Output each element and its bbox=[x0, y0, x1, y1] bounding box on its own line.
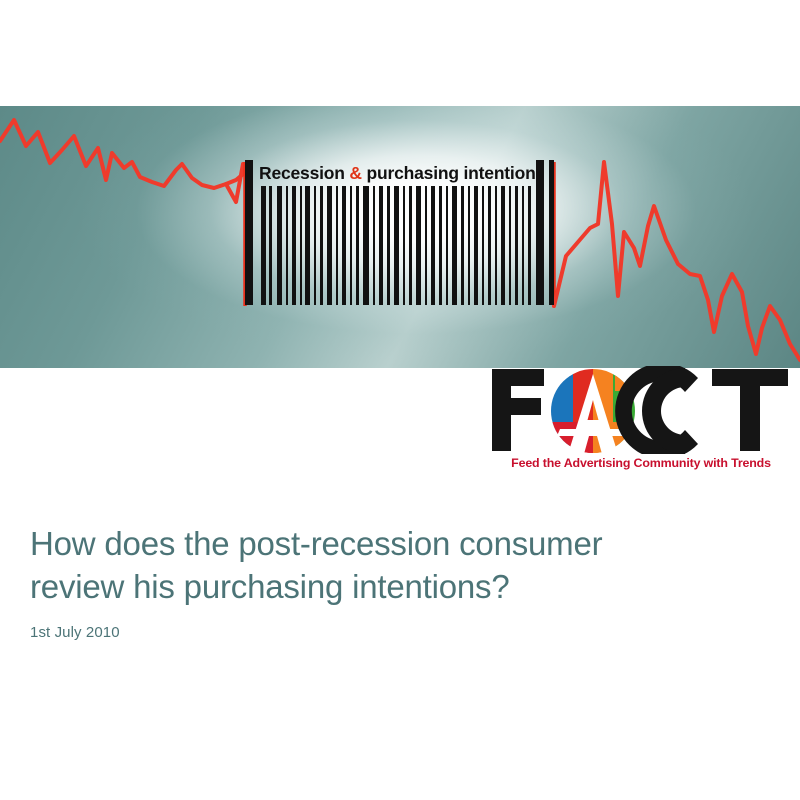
trend-line-right bbox=[554, 162, 800, 360]
logo-letter-c bbox=[615, 366, 698, 454]
trend-line-left bbox=[0, 120, 248, 188]
logo-letter-f bbox=[492, 369, 544, 451]
barcode: Recession & purchasing intention bbox=[243, 160, 556, 305]
fact-logo-mark bbox=[490, 366, 790, 454]
logo-letter-t bbox=[712, 369, 788, 451]
recession-banner: Recession & purchasing intention bbox=[0, 106, 800, 368]
page-title: How does the post-recession consumer rev… bbox=[30, 522, 760, 608]
title-block: How does the post-recession consumer rev… bbox=[30, 522, 760, 641]
logo-a-gap bbox=[557, 429, 629, 436]
page-title-line-2: review his purchasing intentions? bbox=[30, 568, 510, 605]
barcode-bars bbox=[243, 160, 556, 305]
presentation-date: 1st July 2010 bbox=[30, 624, 760, 641]
page-title-line-1: How does the post-recession consumer bbox=[30, 525, 602, 562]
fact-logo: Feed the Advertising Community with Tren… bbox=[490, 366, 790, 478]
fact-logo-tagline: Feed the Advertising Community with Tren… bbox=[492, 456, 790, 470]
